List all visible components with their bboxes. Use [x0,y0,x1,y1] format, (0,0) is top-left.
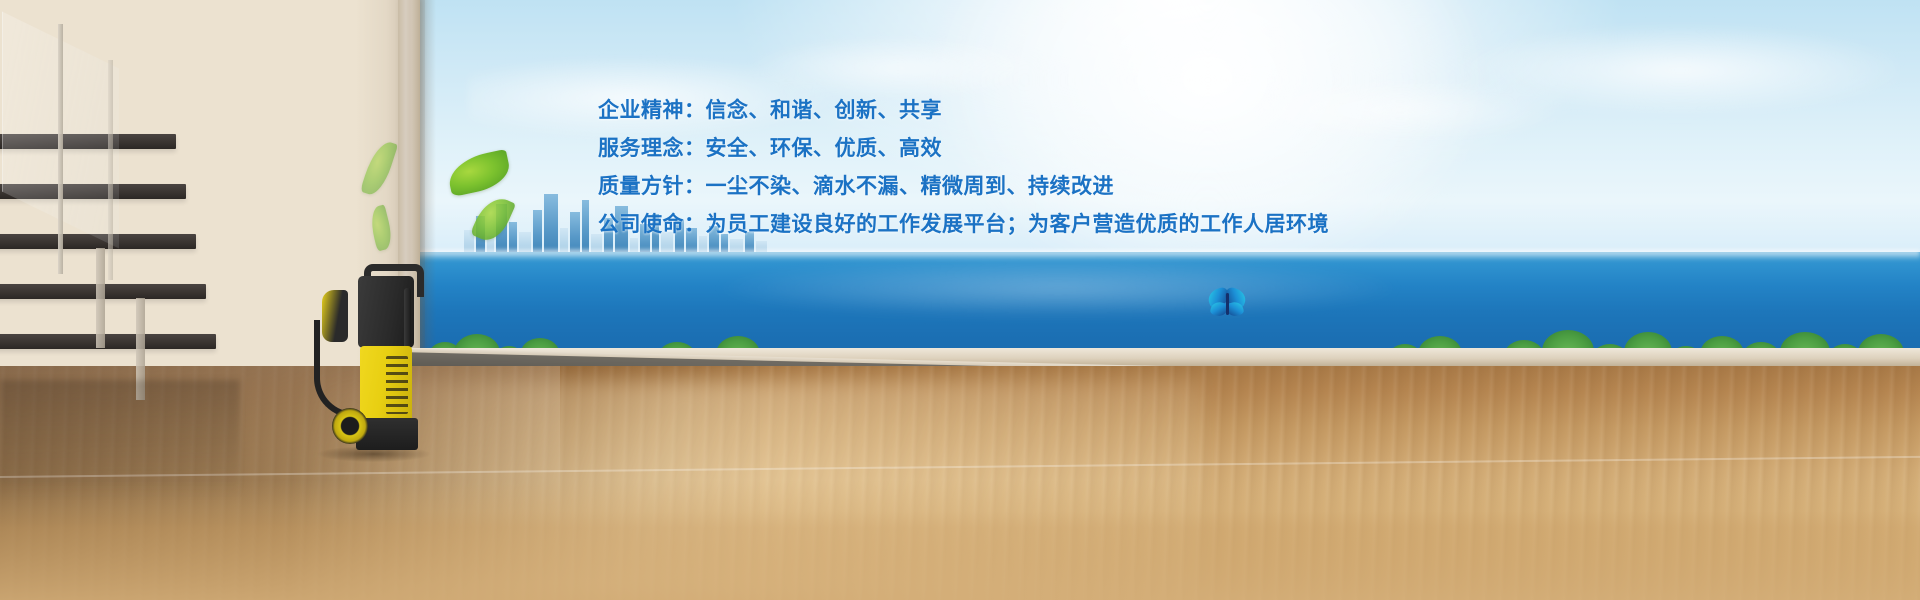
company-culture-banner: 企业精神：信念、和谐、创新、共享 服务理念：安全、环保、优质、高效 质量方针：一… [0,0,1920,600]
slogan-text-block: 企业精神：信念、和谐、创新、共享 服务理念：安全、环保、优质、高效 质量方针：一… [598,92,1498,244]
slogan-line-2: 服务理念：安全、环保、优质、高效 [598,130,1498,168]
washer-vents [386,356,408,414]
washer-wheel [332,408,368,444]
slogan-line-1: 企业精神：信念、和谐、创新、共享 [598,92,1498,130]
slogan-line-3: 质量方针：一尘不染、滴水不漏、精微周到、持续改进 [598,168,1498,206]
staircase-reflection [0,380,240,500]
floor-foreground-band [0,480,1920,600]
pressure-washer [312,258,432,460]
slogan-line-4: 公司使命：为员工建设良好的工作发展平台；为客户营造优质的工作人居环境 [598,206,1498,244]
washer-spray-gun [322,290,348,342]
butterfly-icon [1208,288,1248,326]
